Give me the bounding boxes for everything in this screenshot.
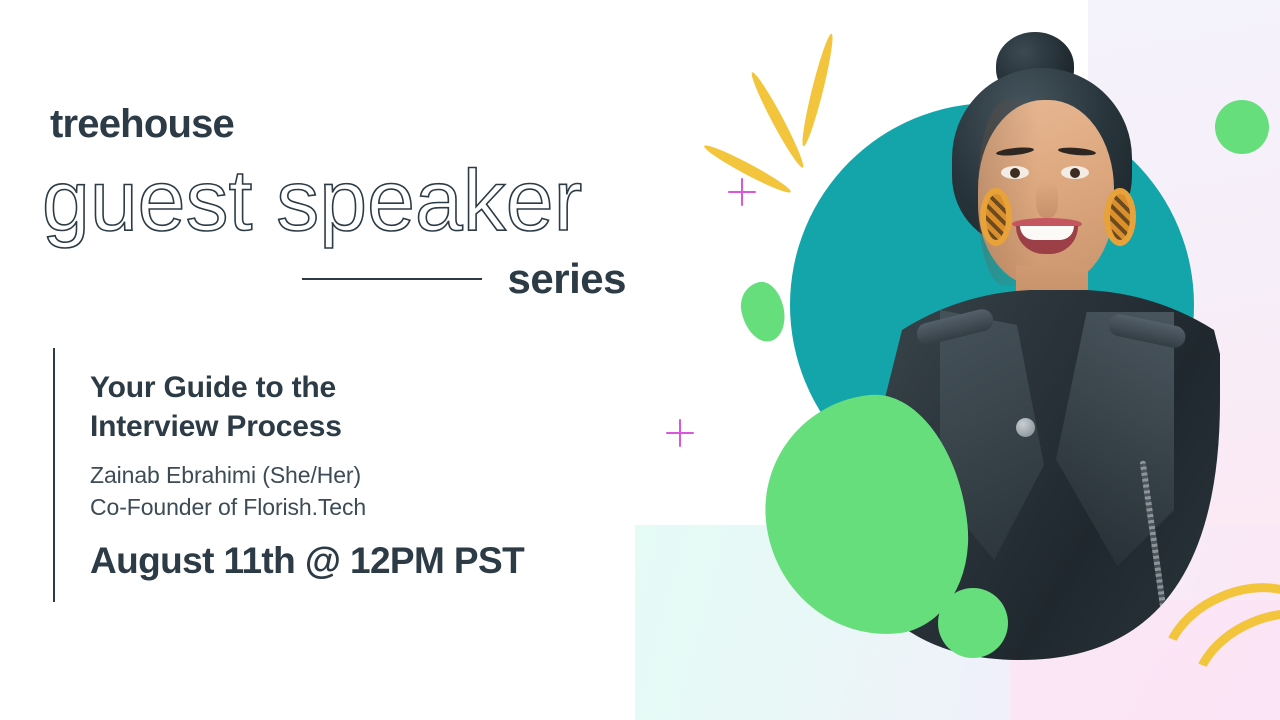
promo-slide: treehouse guest speaker series Your Guid… <box>0 0 1280 720</box>
plus-vertical-bar <box>679 419 681 447</box>
green-blob-small <box>736 278 790 345</box>
series-divider-rule <box>302 278 482 280</box>
details-vertical-rule <box>53 348 55 602</box>
eye-right <box>1061 166 1089 179</box>
jacket-stud <box>1016 418 1035 437</box>
nose <box>1036 180 1058 218</box>
talk-title: Your Guide to the Interview Process <box>90 368 630 446</box>
green-circle-top-right <box>1215 100 1269 154</box>
treehouse-logo: treehouse <box>50 104 234 144</box>
event-datetime: August 11th @ 12PM PST <box>90 541 630 582</box>
earring-right <box>1104 188 1136 246</box>
headline-guest-speaker: guest speaker <box>42 158 582 244</box>
plus-vertical-bar <box>741 178 743 206</box>
plus-mark-icon <box>666 419 694 447</box>
plus-mark-icon <box>728 178 756 206</box>
speaker-name: Zainab Ebrahimi (She/Her) <box>90 460 630 492</box>
teeth <box>1020 226 1074 240</box>
earring-left <box>980 188 1012 246</box>
eye-left <box>1001 166 1029 179</box>
green-circle-bottom <box>938 588 1008 658</box>
speaker-role: Co-Founder of Florish.Tech <box>90 492 630 524</box>
talk-title-line-2: Interview Process <box>90 410 342 443</box>
series-label: series <box>508 258 626 300</box>
event-details: Your Guide to the Interview Process Zain… <box>90 368 630 582</box>
talk-title-line-1: Your Guide to the <box>90 371 336 404</box>
series-row: series <box>42 258 626 300</box>
sparkle-ray-icon <box>747 70 807 171</box>
